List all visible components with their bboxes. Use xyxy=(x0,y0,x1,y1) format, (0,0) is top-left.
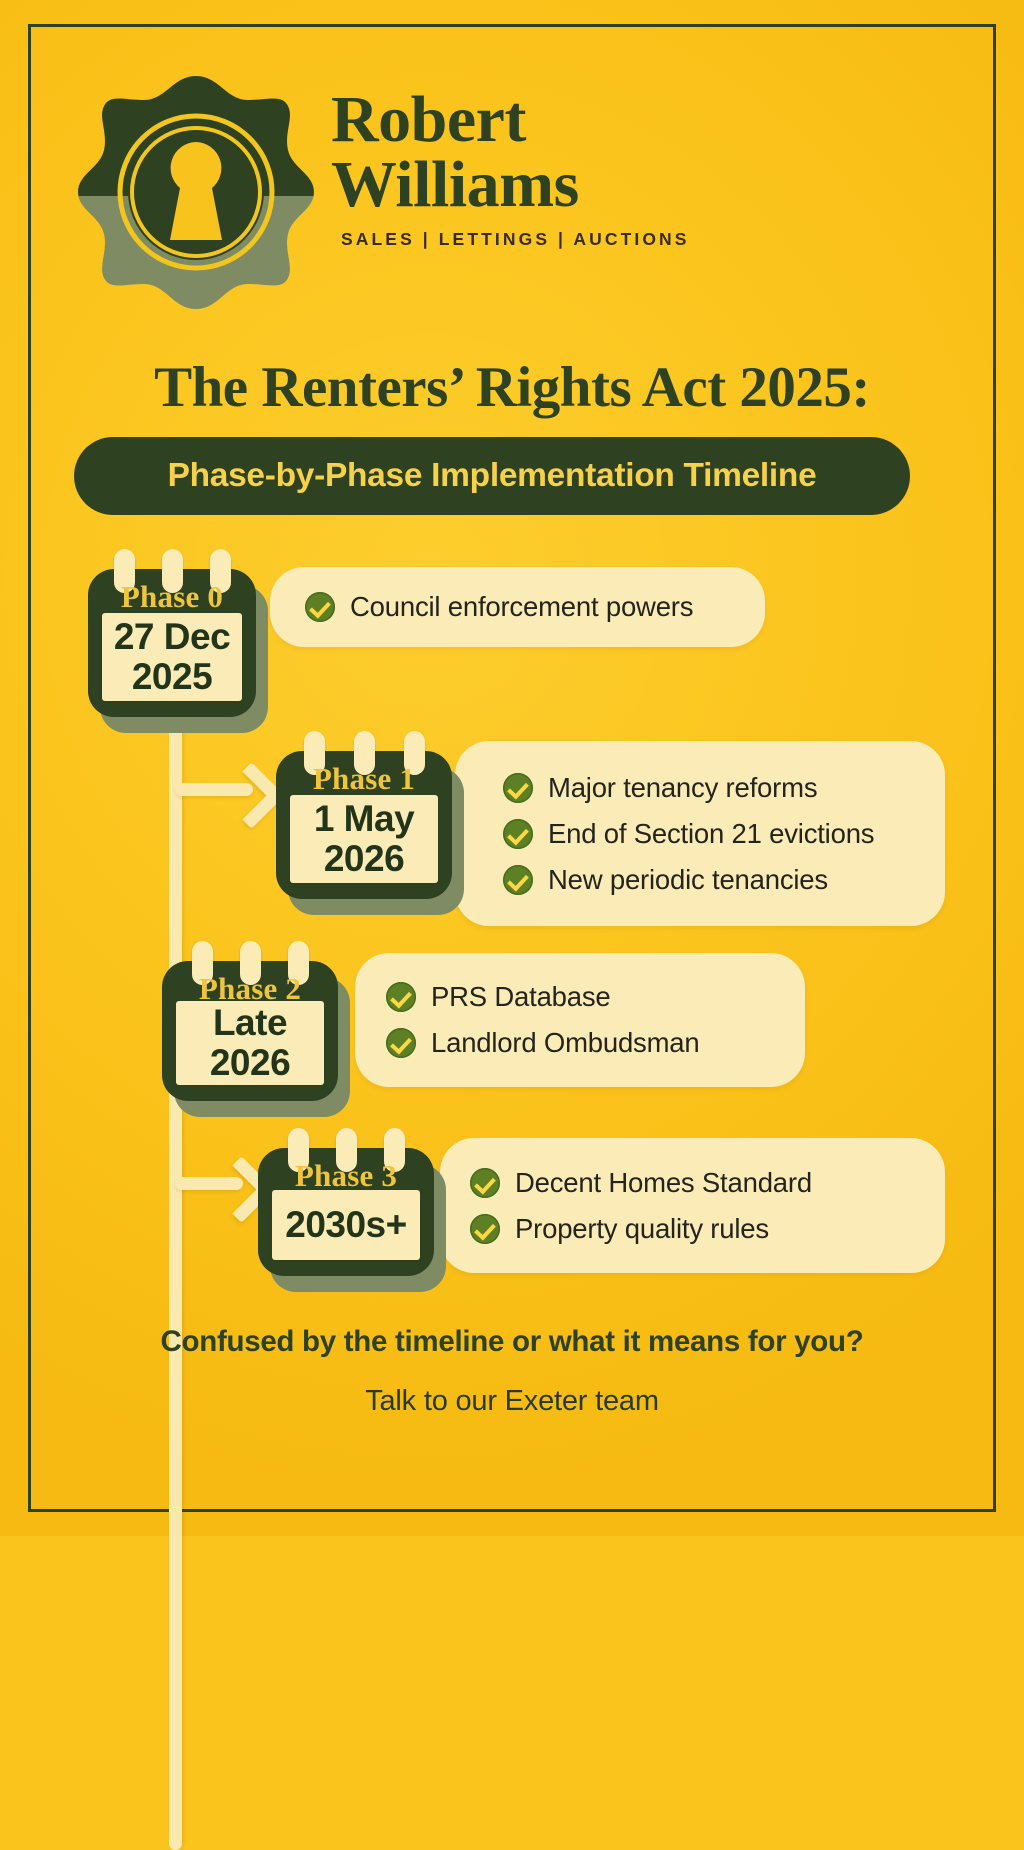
brand-line-2: Williams xyxy=(331,153,951,218)
brand-name: Robert Williams SALES | LETTINGS | AUCTI… xyxy=(331,88,951,250)
phase-3-bullets: Decent Homes Standard Property quality r… xyxy=(470,1138,945,1273)
footer: Confused by the timeline or what it mean… xyxy=(0,1325,1024,1418)
phase-3-calendar-card[interactable]: Phase 3 2030s+ xyxy=(258,1148,434,1276)
list-item: Council enforcement powers xyxy=(305,591,775,623)
list-item: End of Section 21 evictions xyxy=(503,818,943,850)
brand-line-1: Robert xyxy=(331,88,951,153)
bullet-label: Major tenancy reforms xyxy=(548,772,817,804)
phase-0-calendar-card[interactable]: Phase 0 27 Dec 2025 xyxy=(88,569,256,717)
bullet-label: End of Section 21 evictions xyxy=(548,818,874,850)
bullet-label: Council enforcement powers xyxy=(350,591,693,623)
bullet-label: PRS Database xyxy=(431,981,611,1013)
list-item: New periodic tenancies xyxy=(503,864,943,896)
list-item: PRS Database xyxy=(386,981,806,1013)
check-circle-icon xyxy=(305,592,335,622)
check-circle-icon xyxy=(386,1028,416,1058)
phase-3-date: 2030s+ xyxy=(272,1190,420,1260)
phase-1-date-line-1: 1 May xyxy=(314,799,414,839)
timeline-phase-0[interactable]: Council enforcement powers Phase 0 27 De… xyxy=(0,545,1024,730)
list-item: Major tenancy reforms xyxy=(503,772,943,804)
phase-1-bullets: Major tenancy reforms End of Section 21 … xyxy=(503,741,943,926)
phase-2-date-line-2: 2026 xyxy=(210,1043,290,1083)
list-item: Landlord Ombudsman xyxy=(386,1027,806,1059)
footer-cta[interactable]: Talk to our Exeter team xyxy=(0,1385,1024,1418)
subtitle-banner: Phase-by-Phase Implementation Timeline xyxy=(74,437,910,515)
phase-1-date: 1 May 2026 xyxy=(290,795,438,883)
brand-tagline: SALES | LETTINGS | AUCTIONS xyxy=(341,229,951,250)
list-item: Decent Homes Standard xyxy=(470,1167,945,1199)
check-circle-icon xyxy=(470,1168,500,1198)
timeline: Council enforcement powers Phase 0 27 De… xyxy=(0,545,1024,1325)
check-circle-icon xyxy=(503,865,533,895)
footer-question: Confused by the timeline or what it mean… xyxy=(0,1325,1024,1359)
phase-3-date-line-1: 2030s+ xyxy=(285,1205,407,1245)
check-circle-icon xyxy=(470,1214,500,1244)
phase-0-label: Phase 0 xyxy=(88,579,256,615)
phase-0-date-line-2: 2025 xyxy=(114,657,230,697)
phase-0-date-line-1: 27 Dec xyxy=(114,617,230,657)
check-circle-icon xyxy=(503,773,533,803)
subtitle-text: Phase-by-Phase Implementation Timeline xyxy=(168,457,817,495)
timeline-phase-2[interactable]: PRS Database Landlord Ombudsman Phase 2 … xyxy=(0,937,1024,1122)
phase-1-label: Phase 1 xyxy=(276,761,452,797)
phase-0-date: 27 Dec 2025 xyxy=(102,613,242,701)
phase-2-bullets: PRS Database Landlord Ombudsman xyxy=(386,953,806,1087)
phase-1-date-line-2: 2026 xyxy=(314,839,414,879)
timeline-phase-3[interactable]: Decent Homes Standard Property quality r… xyxy=(0,1130,1024,1320)
shield-keyhole-badge-icon xyxy=(76,70,316,315)
logo-header: Robert Williams SALES | LETTINGS | AUCTI… xyxy=(76,70,956,315)
timeline-phase-1[interactable]: Major tenancy reforms End of Section 21 … xyxy=(0,733,1024,933)
phase-3-label: Phase 3 xyxy=(258,1158,434,1194)
check-circle-icon xyxy=(503,819,533,849)
phase-2-date: Late 2026 xyxy=(176,1001,324,1085)
bullet-label: Decent Homes Standard xyxy=(515,1167,812,1199)
phase-1-calendar-card[interactable]: Phase 1 1 May 2026 xyxy=(276,751,452,899)
list-item: Property quality rules xyxy=(470,1213,945,1245)
page-title: The Renters’ Rights Act 2025: xyxy=(0,355,1024,420)
phase-2-date-line-1: Late xyxy=(210,1003,290,1043)
bullet-label: Property quality rules xyxy=(515,1213,769,1245)
check-circle-icon xyxy=(386,982,416,1012)
bullet-label: New periodic tenancies xyxy=(548,864,828,896)
bullet-label: Landlord Ombudsman xyxy=(431,1027,700,1059)
phase-2-calendar-card[interactable]: Phase 2 Late 2026 xyxy=(162,961,338,1101)
phase-0-bullets: Council enforcement powers xyxy=(305,567,775,647)
